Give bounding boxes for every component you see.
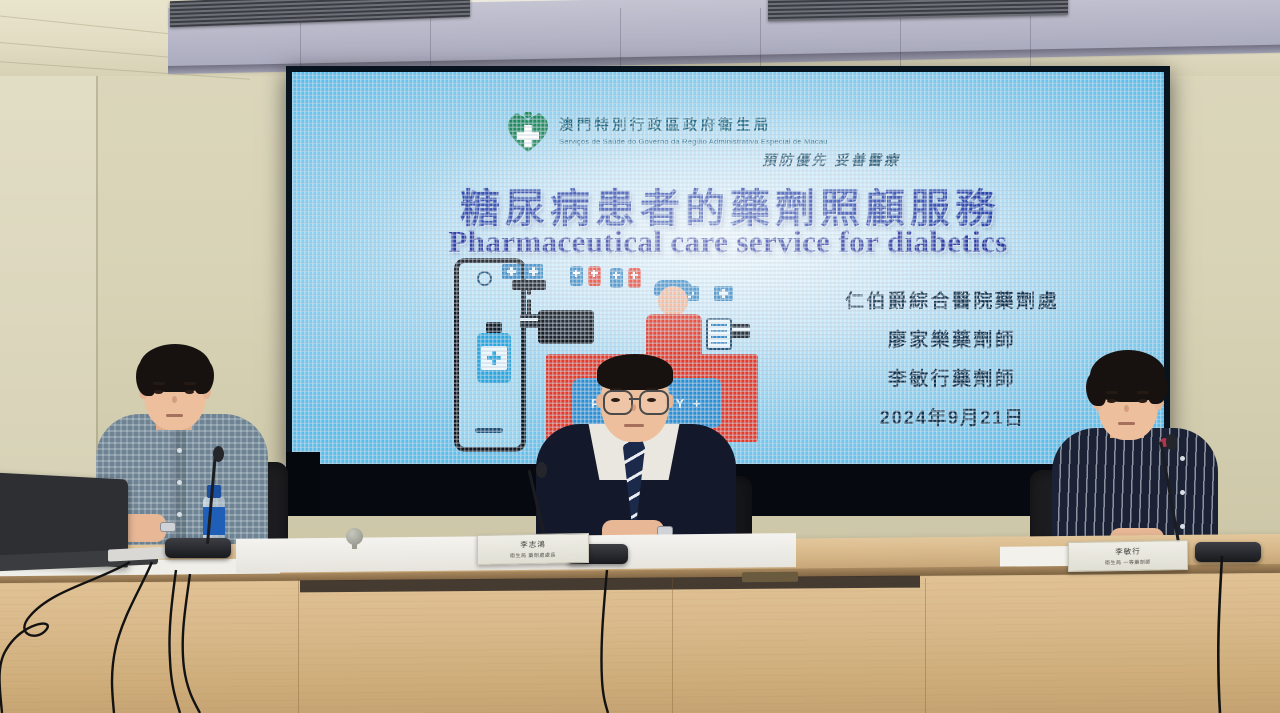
- wristwatch: [160, 522, 176, 532]
- press-conference-photo: 澳門特別行政區政府衛生局 Serviços de Saúde do Govern…: [0, 0, 1280, 713]
- eyebrow: [1106, 391, 1118, 394]
- mouth: [624, 424, 644, 427]
- keyboard-icon: [512, 280, 546, 290]
- center-panelist-hair: [597, 354, 673, 390]
- nameplate-right: 李敏行 衛生局 一等藥劑師: [1068, 540, 1188, 572]
- table-front-panel: [0, 573, 1280, 713]
- nameplate-name: 李志鴻: [520, 539, 546, 550]
- hair-sideburn: [1086, 372, 1106, 406]
- microphone-head-icon: [1166, 434, 1177, 450]
- eyebrow: [1137, 391, 1149, 394]
- shirt-button: [177, 480, 182, 485]
- eye: [185, 390, 194, 394]
- cable-right: [1180, 556, 1280, 713]
- medicine-bottle-icon: [477, 333, 511, 383]
- pill-bottle-icon: [588, 266, 601, 286]
- nose: [1124, 405, 1129, 412]
- slide-title-english: Pharmaceutical care service for diabetic…: [348, 224, 1108, 260]
- nose: [631, 404, 636, 411]
- eye: [1138, 399, 1147, 403]
- health-bureau-logo-row: 澳門特別行政區政府衛生局 Serviços de Saúde do Govern…: [506, 112, 828, 154]
- shirt-button: [1180, 456, 1185, 461]
- mouth: [166, 414, 183, 417]
- eye: [647, 398, 656, 402]
- pill-bottle-icon: [610, 268, 623, 288]
- table-panel-seam: [672, 578, 673, 713]
- shirt-button: [177, 448, 182, 453]
- medical-cross-icon: [502, 264, 521, 279]
- hair-sideburn: [136, 360, 156, 396]
- shirt-button: [177, 512, 182, 517]
- microphone-head-icon: [536, 462, 547, 478]
- presenter-name-1: 廖家樂藥劑師: [804, 325, 1100, 352]
- clipboard-icon: [706, 318, 732, 350]
- heart-cross-logo-icon: [506, 112, 550, 154]
- nameplate-name: 李敏行: [1115, 546, 1141, 557]
- decor-sphere: [346, 528, 363, 545]
- table-panel-seam: [925, 578, 926, 713]
- screen-left-dark-edge: [286, 452, 320, 516]
- soffit-seam: [1030, 8, 1031, 74]
- org-name-chinese: 澳門特別行政區政府衛生局: [559, 119, 828, 135]
- monitor-icon: [538, 310, 594, 344]
- eye: [1107, 399, 1116, 403]
- slide-date: 2024年9月21日: [804, 403, 1100, 430]
- slide-motto: 預防優先 妥善醫療: [762, 150, 900, 170]
- eye: [154, 390, 163, 394]
- medical-cross-icon: [714, 286, 733, 301]
- pill-bottle-icon: [570, 266, 583, 286]
- table-cable-recess: [742, 572, 798, 582]
- eye: [611, 398, 620, 402]
- wood-grain: [0, 573, 1280, 713]
- nameplate-left: 李志鴻 衛生局 藥劑處處長: [477, 533, 589, 565]
- org-name-portuguese: Serviços de Saúde do Governo da Região A…: [559, 137, 828, 146]
- presenter-name-2: 李敏行藥劑師: [804, 364, 1100, 391]
- nameplate-subtitle: 衛生局 一等藥劑師: [1105, 559, 1151, 567]
- pill-bottle-icon: [628, 268, 641, 288]
- mouth: [1118, 422, 1135, 425]
- eyebrow: [153, 382, 165, 385]
- table-microphone-base[interactable]: [165, 538, 231, 558]
- led-video-wall: 澳門特別行政區政府衛生局 Serviços de Saúde do Govern…: [292, 72, 1164, 464]
- nose: [172, 396, 177, 403]
- presenter-department: 仁伯爵綜合醫院藥劑處: [804, 286, 1100, 313]
- medical-cross-icon: [524, 264, 543, 279]
- eyebrow: [184, 382, 196, 385]
- microphone-head-icon: [213, 446, 224, 462]
- table-panel-seam: [298, 578, 299, 713]
- shirt-button: [1180, 490, 1185, 495]
- presenter-block: 仁伯爵綜合醫院藥劑處 廖家樂藥劑師 李敏行藥劑師 2024年9月21日: [804, 286, 1100, 442]
- nameplate-subtitle: 衛生局 藥劑處處長: [510, 552, 556, 560]
- shirt-button: [1180, 524, 1185, 529]
